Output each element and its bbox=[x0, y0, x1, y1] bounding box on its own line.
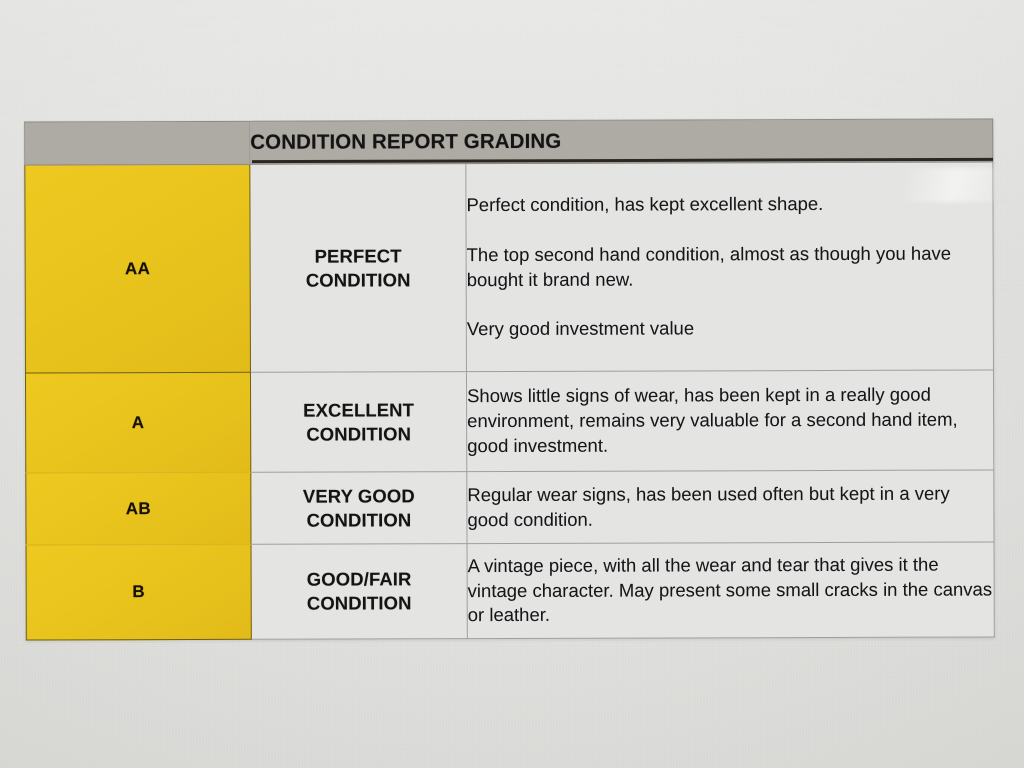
description-paragraph: A vintage piece, with all the wear and t… bbox=[468, 552, 994, 629]
condition-name-line1: VERY GOOD bbox=[303, 485, 415, 506]
description-paragraph: Perfect condition, has kept excellent sh… bbox=[466, 191, 992, 218]
condition-name-cell-a: EXCELLENT CONDITION bbox=[250, 372, 466, 473]
condition-name-line2: CONDITION bbox=[307, 509, 412, 530]
condition-report-grading-table: CONDITION REPORT GRADING AA PERFECT COND… bbox=[24, 118, 995, 640]
description-cell-aa: Perfect condition, has kept excellent sh… bbox=[466, 162, 994, 372]
condition-name-cell-ab: VERY GOOD CONDITION bbox=[251, 472, 467, 545]
grade-cell-b: B bbox=[26, 544, 251, 640]
photographed-document: CONDITION REPORT GRADING AA PERFECT COND… bbox=[0, 0, 1024, 768]
condition-name-line2: CONDITION bbox=[306, 423, 411, 444]
table-row: B GOOD/FAIR CONDITION A vintage piece, w… bbox=[26, 542, 994, 640]
description-paragraph: Very good investment value bbox=[467, 316, 993, 343]
description-paragraph: The top second hand condition, almost as… bbox=[467, 241, 993, 293]
description-paragraph: Regular wear signs, has been used often … bbox=[467, 481, 993, 533]
condition-name-line1: GOOD/FAIR bbox=[307, 569, 412, 590]
description-cell-b: A vintage piece, with all the wear and t… bbox=[467, 542, 994, 639]
condition-name-cell-b: GOOD/FAIR CONDITION bbox=[251, 544, 467, 640]
condition-name-line1: PERFECT bbox=[315, 245, 402, 266]
table-row: AB VERY GOOD CONDITION Regular wear sign… bbox=[26, 470, 994, 545]
grade-cell-a: A bbox=[25, 372, 250, 473]
header-blank-cell bbox=[25, 121, 250, 165]
condition-name-cell-aa: PERFECT CONDITION bbox=[250, 164, 467, 373]
condition-name-line2: CONDITION bbox=[307, 592, 412, 613]
description-cell-ab: Regular wear signs, has been used often … bbox=[467, 470, 994, 544]
condition-name-line2: CONDITION bbox=[306, 269, 411, 290]
grade-cell-ab: AB bbox=[26, 472, 251, 545]
description-cell-a: Shows little signs of wear, has been kep… bbox=[466, 370, 993, 472]
table-row: A EXCELLENT CONDITION Shows little signs… bbox=[25, 370, 993, 473]
description-paragraph: Shows little signs of wear, has been kep… bbox=[467, 383, 993, 460]
grade-cell-aa: AA bbox=[25, 164, 251, 373]
table-row: AA PERFECT CONDITION Perfect condition, … bbox=[25, 162, 994, 373]
condition-name-line1: EXCELLENT bbox=[303, 399, 414, 420]
